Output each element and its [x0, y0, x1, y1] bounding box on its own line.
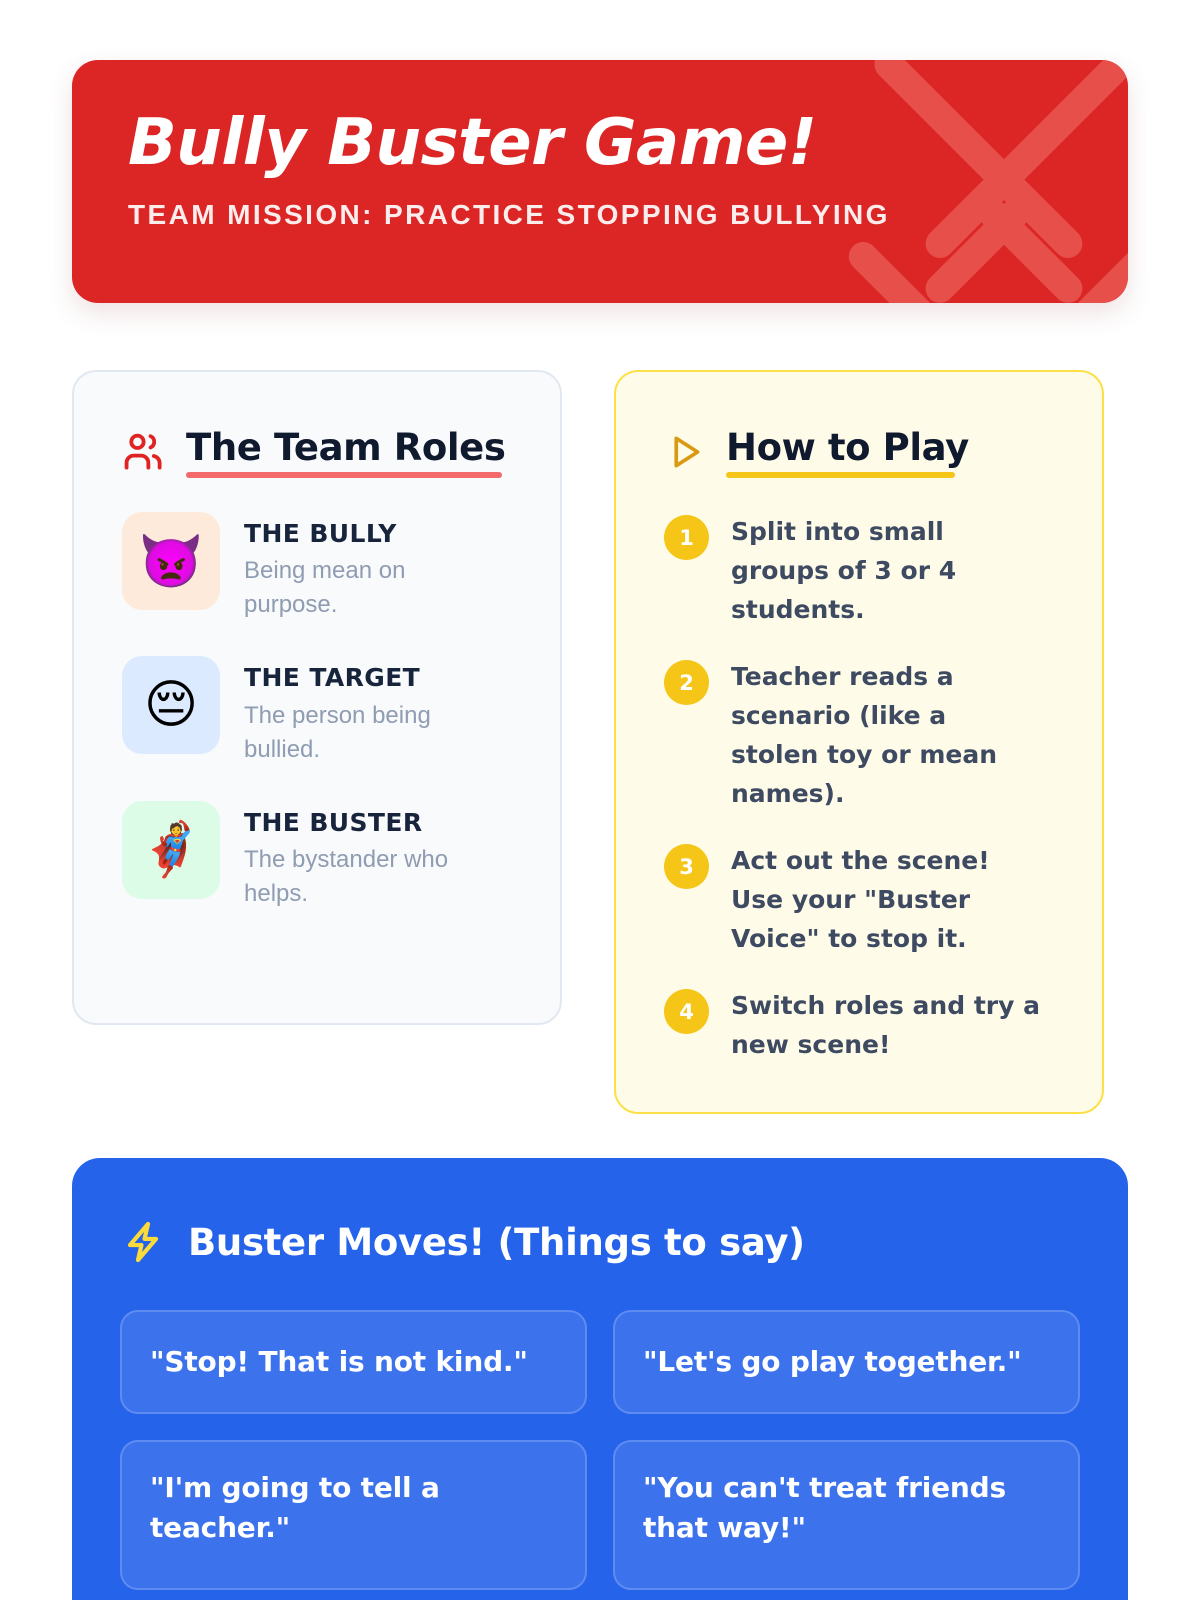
- role-item[interactable]: 🦸 THE BUSTER The bystander who helps.: [122, 801, 520, 911]
- lightning-bolt-icon: [120, 1218, 166, 1266]
- buster-moves-title: Buster Moves! (Things to say): [188, 1221, 805, 1264]
- team-roles-header: The Team Roles: [122, 426, 520, 478]
- buster-move-chip[interactable]: "I'm going to tell a teacher.": [120, 1440, 587, 1590]
- step-number: 4: [664, 989, 709, 1034]
- role-description: The bystander who helps.: [244, 843, 469, 911]
- buster-move-chip[interactable]: "Stop! That is not kind.": [120, 1310, 587, 1414]
- step-text: Split into small groups of 3 or 4 studen…: [731, 512, 1041, 629]
- play-step[interactable]: 1 Split into small groups of 3 or 4 stud…: [664, 512, 1062, 629]
- play-triangle-icon: [664, 431, 706, 473]
- role-name: THE BUSTER: [244, 807, 469, 838]
- infographic-page: Bully Buster Game! TEAM MISSION: PRACTIC…: [0, 60, 1200, 1600]
- step-number: 2: [664, 660, 709, 705]
- buster-moves-header: Buster Moves! (Things to say): [120, 1218, 1080, 1266]
- hero-banner: Bully Buster Game! TEAM MISSION: PRACTIC…: [72, 60, 1128, 303]
- how-to-play-column: How to Play 1 Split into small groups of…: [614, 370, 1104, 1114]
- page-title: Bully Buster Game!: [128, 110, 1072, 177]
- buster-move-chip[interactable]: "Let's go play together.": [613, 1310, 1080, 1414]
- role-name: THE BULLY: [244, 518, 469, 549]
- role-name: THE TARGET: [244, 662, 469, 693]
- how-to-play-title: How to Play: [726, 426, 969, 478]
- team-roles-column: The Team Roles 👿 THE BULLY Being mean on…: [72, 370, 562, 1025]
- buster-moves-grid: "Stop! That is not kind." "Let's go play…: [120, 1310, 1080, 1590]
- step-number: 3: [664, 844, 709, 889]
- role-text-group: THE BUSTER The bystander who helps.: [244, 801, 469, 911]
- how-to-play-card: How to Play 1 Split into small groups of…: [614, 370, 1104, 1114]
- play-step[interactable]: 3 Act out the scene! Use your "Buster Vo…: [664, 841, 1062, 958]
- play-step[interactable]: 4 Switch roles and try a new scene!: [664, 986, 1062, 1064]
- play-step[interactable]: 2 Teacher reads a scenario (like a stole…: [664, 657, 1062, 813]
- angry-devil-face-emoji: 👿: [122, 512, 220, 610]
- step-number: 1: [664, 515, 709, 560]
- role-description: The person being bullied.: [244, 699, 469, 767]
- step-text: Switch roles and try a new scene!: [731, 986, 1041, 1064]
- pensive-face-emoji: 😔: [122, 656, 220, 754]
- step-text: Act out the scene! Use your "Buster Voic…: [731, 841, 1041, 958]
- buster-move-chip[interactable]: "You can't treat friends that way!": [613, 1440, 1080, 1590]
- superhero-emoji: 🦸: [122, 801, 220, 899]
- role-text-group: THE BULLY Being mean on purpose.: [244, 512, 469, 622]
- content-columns: The Team Roles 👿 THE BULLY Being mean on…: [72, 370, 1128, 1114]
- step-text: Teacher reads a scenario (like a stolen …: [731, 657, 1041, 813]
- role-item[interactable]: 😔 THE TARGET The person being bullied.: [122, 656, 520, 766]
- how-to-play-header: How to Play: [664, 426, 1062, 478]
- role-description: Being mean on purpose.: [244, 554, 469, 622]
- role-item[interactable]: 👿 THE BULLY Being mean on purpose.: [122, 512, 520, 622]
- buster-moves-card: Buster Moves! (Things to say) "Stop! Tha…: [72, 1158, 1128, 1600]
- role-text-group: THE TARGET The person being bullied.: [244, 656, 469, 766]
- users-icon: [122, 432, 166, 472]
- team-roles-card: The Team Roles 👿 THE BULLY Being mean on…: [72, 370, 562, 1025]
- team-roles-title: The Team Roles: [186, 426, 506, 478]
- page-subtitle: TEAM MISSION: PRACTICE STOPPING BULLYING: [128, 199, 1072, 231]
